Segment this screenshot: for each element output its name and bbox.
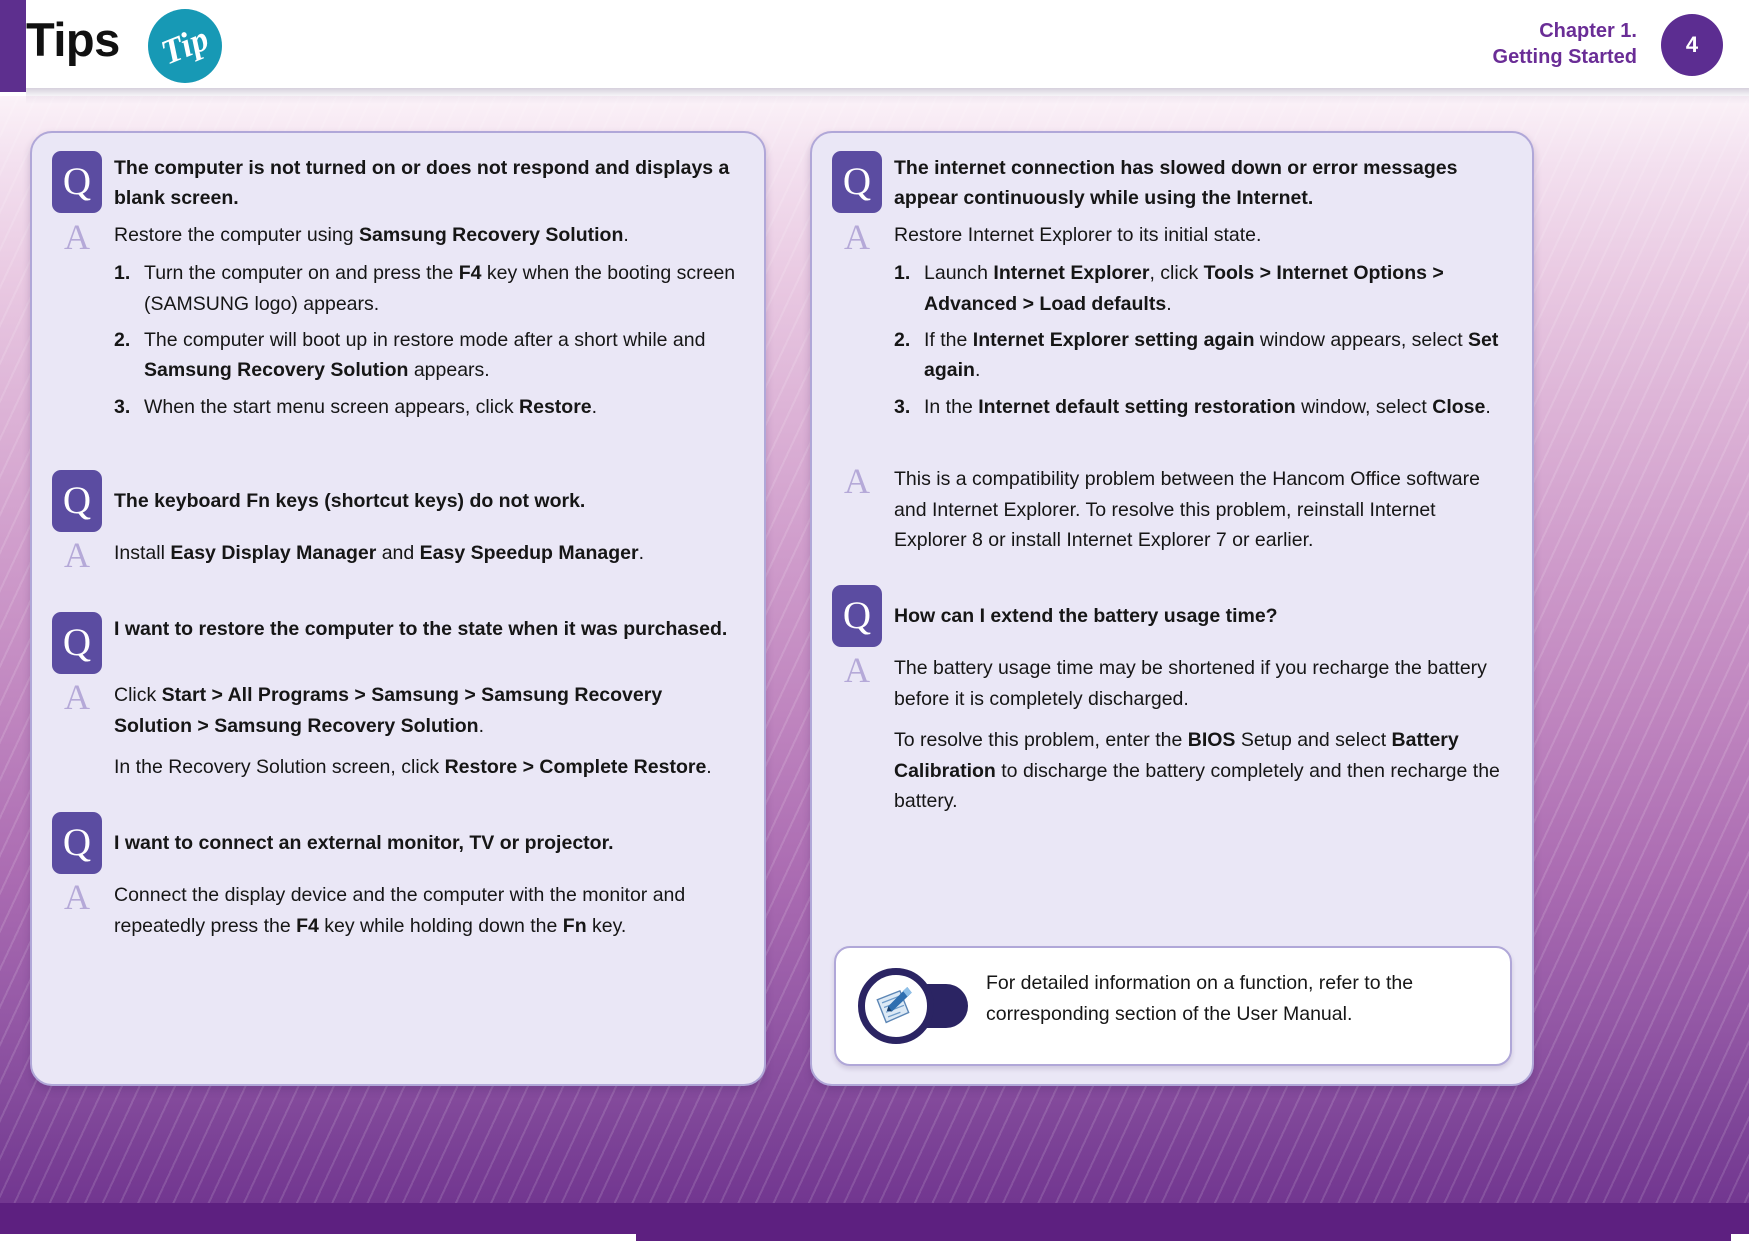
note-icon-glyph [872, 982, 920, 1030]
answer-row: A Click Start > All Programs > Samsung >… [52, 680, 742, 782]
step-number: 2. [114, 325, 130, 355]
question-text: I want to connect an external monitor, T… [114, 828, 742, 858]
answer-paragraph: To resolve this problem, enter the BIOS … [894, 725, 1510, 816]
answer-body: Install Easy Display Manager and Easy Sp… [114, 538, 742, 568]
a-badge-icon: A [832, 220, 882, 252]
right-column-panel: Q The internet connection has slowed dow… [810, 131, 1534, 1086]
answer-body: Click Start > All Programs > Samsung > S… [114, 680, 742, 782]
q-badge-icon: Q [832, 585, 882, 647]
q-badge-icon: Q [52, 151, 102, 213]
q-badge-icon: Q [832, 151, 882, 213]
question-row: Q How can I extend the battery usage tim… [832, 585, 1510, 647]
question-row: Q The internet connection has slowed dow… [832, 151, 1510, 214]
answer-row: A Restore Internet Explorer to its initi… [832, 220, 1510, 428]
header-accent-bar [0, 0, 26, 92]
question-text: I want to restore the computer to the st… [114, 612, 742, 644]
page-title: Tips [26, 12, 120, 67]
answer-paragraph: Restore Internet Explorer to its initial… [894, 220, 1510, 250]
question-text: The keyboard Fn keys (shortcut keys) do … [114, 486, 742, 516]
question-row: Q The computer is not turned on or does … [52, 151, 742, 214]
tip-badge-icon: Tip [148, 9, 222, 83]
qa-block: Q The internet connection has slowed dow… [832, 151, 1510, 428]
page-header: Tips Tip Chapter 1. Getting Started 4 [0, 0, 1749, 96]
spacer [52, 782, 742, 812]
footer-white-right [1731, 1234, 1749, 1241]
answer-body: The battery usage time may be shortened … [894, 653, 1510, 816]
answer-body: Connect the display device and the compu… [114, 880, 742, 941]
step-number: 1. [114, 258, 130, 288]
note-text: For detailed information on a function, … [986, 968, 1492, 1030]
spacer [832, 555, 1510, 585]
manual-page: Tips Tip Chapter 1. Getting Started 4 Q … [0, 0, 1749, 1241]
answer-paragraph: The battery usage time may be shortened … [894, 653, 1510, 714]
answer-row: A Connect the display device and the com… [52, 880, 742, 941]
answer-row: A This is a compatibility problem betwee… [832, 464, 1510, 555]
left-column-panel: Q The computer is not turned on or does … [30, 131, 766, 1086]
answer-paragraph: Click Start > All Programs > Samsung > S… [114, 680, 742, 741]
answer-body: Restore the computer using Samsung Recov… [114, 220, 742, 428]
footer-white-left [0, 1234, 636, 1241]
answer-paragraph: Connect the display device and the compu… [114, 880, 742, 941]
question-row: Q I want to restore the computer to the … [52, 612, 742, 674]
answer-row: A The battery usage time may be shortene… [832, 653, 1510, 816]
qa-block: Q I want to connect an external monitor,… [52, 812, 742, 941]
q-badge-icon: Q [52, 812, 102, 874]
question-text: How can I extend the battery usage time? [894, 601, 1510, 631]
spacer [52, 570, 742, 612]
q-badge-icon: Q [52, 612, 102, 674]
chapter-label: Chapter 1. Getting Started [1493, 18, 1637, 71]
a-badge-icon: A [52, 680, 102, 712]
chapter-line-1: Chapter 1. [1493, 18, 1637, 44]
step-item: 2.If the Internet Explorer setting again… [894, 325, 1510, 386]
qa-block: A This is a compatibility problem betwee… [832, 464, 1510, 555]
answer-body: Restore Internet Explorer to its initial… [894, 220, 1510, 428]
steps-list: 1.Launch Internet Explorer, click Tools … [894, 258, 1510, 422]
notepad-pencil-icon [858, 968, 968, 1044]
tip-badge-label: Tip [137, 0, 233, 94]
answer-paragraph: In the Recovery Solution screen, click R… [114, 752, 742, 782]
page-number-badge: 4 [1661, 14, 1723, 76]
a-badge-icon: A [52, 538, 102, 570]
a-badge-icon: A [52, 880, 102, 912]
question-row: Q I want to connect an external monitor,… [52, 812, 742, 874]
step-item: 1.Launch Internet Explorer, click Tools … [894, 258, 1510, 319]
answer-row: A Install Easy Display Manager and Easy … [52, 538, 742, 570]
answer-paragraph: Restore the computer using Samsung Recov… [114, 220, 742, 250]
step-number: 3. [114, 392, 130, 422]
header-shadow [26, 88, 1749, 104]
qa-block: Q How can I extend the battery usage tim… [832, 585, 1510, 816]
step-item: 3.When the start menu screen appears, cl… [114, 392, 742, 422]
step-item: 3.In the Internet default setting restor… [894, 392, 1510, 422]
qa-block: Q The keyboard Fn keys (shortcut keys) d… [52, 470, 742, 570]
question-text: The computer is not turned on or does no… [114, 151, 742, 214]
step-number: 3. [894, 392, 910, 422]
question-row: Q The keyboard Fn keys (shortcut keys) d… [52, 470, 742, 532]
spacer [52, 428, 742, 470]
answer-paragraph: This is a compatibility problem between … [894, 464, 1510, 555]
steps-list: 1.Turn the computer on and press the F4 … [114, 258, 742, 422]
step-item: 2.The computer will boot up in restore m… [114, 325, 742, 386]
step-number: 1. [894, 258, 910, 288]
answer-paragraph: Install Easy Display Manager and Easy Sp… [114, 538, 742, 568]
qa-block: Q The computer is not turned on or does … [52, 151, 742, 428]
a-badge-icon: A [52, 220, 102, 252]
step-number: 2. [894, 325, 910, 355]
a-badge-icon: A [832, 464, 882, 496]
a-badge-icon: A [832, 653, 882, 685]
answer-body: This is a compatibility problem between … [894, 464, 1510, 555]
step-item: 1.Turn the computer on and press the F4 … [114, 258, 742, 319]
q-badge-icon: Q [52, 470, 102, 532]
answer-row: A Restore the computer using Samsung Rec… [52, 220, 742, 428]
question-text: The internet connection has slowed down … [894, 151, 1510, 214]
spacer [832, 428, 1510, 458]
qa-block: Q I want to restore the computer to the … [52, 612, 742, 782]
chapter-line-2: Getting Started [1493, 44, 1637, 70]
note-box: For detailed information on a function, … [834, 946, 1512, 1066]
